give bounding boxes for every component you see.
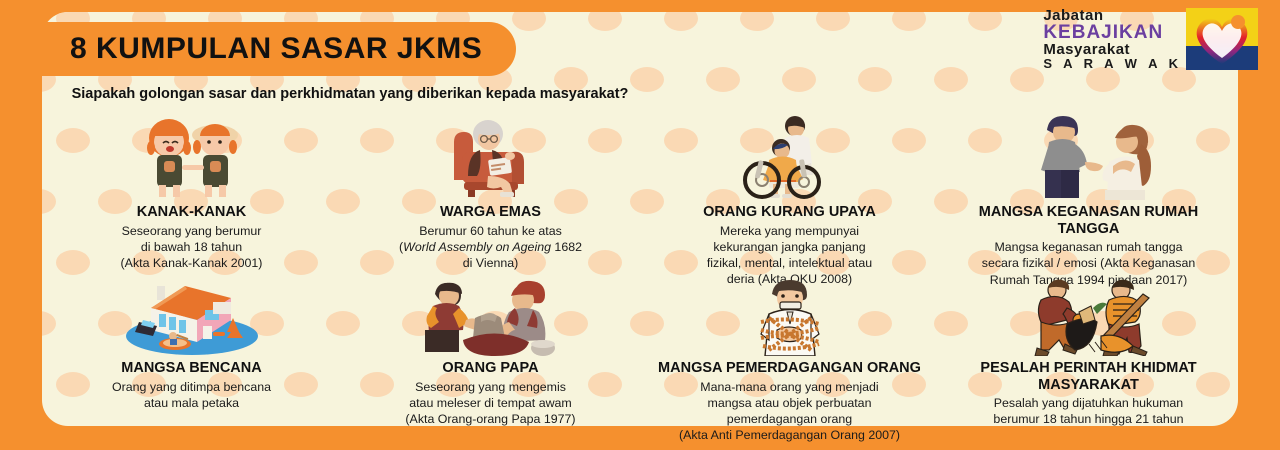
giving-aid-icon — [411, 278, 571, 356]
bound-person-icon — [725, 278, 855, 356]
card-pesalah-perintah-khidmat-masyarakat: PESALAH PERINTAH KHIDMAT MASYARAKAT Pesa… — [939, 278, 1238, 438]
background-dot — [782, 67, 816, 92]
card-body-line: (Akta Orang-orang Papa 1977) — [405, 411, 575, 427]
card-body: Seseorang yang mengemis atau meleser di … — [405, 379, 575, 427]
card-mangsa-keganasan-rumah-tangga: MANGSA KEGANASAN RUMAH TANGGA Mangsa keg… — [939, 108, 1238, 278]
card-body-line: Mana-mana orang yang menjadi — [679, 379, 900, 395]
card-heading: MANGSA PEMERDAGANGAN ORANG — [658, 360, 921, 377]
logo-line-sarawak: S A R A W A K — [1043, 57, 1182, 70]
wheelchair-user-icon — [725, 108, 855, 200]
card-heading: MANGSA KEGANASAN RUMAH TANGGA — [949, 204, 1228, 237]
card-body-line: atau meleser di tempat awam — [405, 395, 575, 411]
card-body-line: Mangsa keganasan rumah tangga — [982, 239, 1196, 255]
card-body: Seseorang yang berumur di bawah 18 tahun… — [121, 223, 263, 271]
infographic-poster: 8 KUMPULAN SASAR JKMS Jabatan KEBAJIKAN … — [0, 0, 1280, 450]
card-kanak-kanak: KANAK-KANAK Seseorang yang berumur di ba… — [42, 108, 341, 278]
card-heading: WARGA EMAS — [440, 204, 541, 221]
card-body: Mana-mana orang yang menjadi mangsa atau… — [679, 379, 900, 444]
background-dot — [740, 12, 774, 31]
background-dot — [968, 12, 1002, 31]
background-dot — [512, 12, 546, 31]
domestic-violence-icon — [1009, 108, 1169, 200]
subtitle: Siapakah golongan sasar dan perkhidmatan… — [60, 84, 640, 105]
heart-emblem-icon — [1186, 8, 1258, 70]
logo-wordmark: Jabatan KEBAJIKAN Masyarakat S A R A W A… — [1043, 8, 1182, 70]
two-children-icon — [127, 108, 257, 200]
card-body-line: di Vienna) — [399, 255, 582, 271]
page-title: 8 KUMPULAN SASAR JKMS — [70, 32, 482, 66]
background-dot — [858, 67, 892, 92]
logo-line-jabatan: Jabatan — [1043, 8, 1182, 23]
background-dot — [706, 67, 740, 92]
logo-line-kebajikan: KEBAJIKAN — [1043, 23, 1182, 42]
card-heading: ORANG KURANG UPAYA — [703, 204, 876, 221]
card-body-line: Seseorang yang berumur — [121, 223, 263, 239]
card-body: Pesalah yang dijatuhkan hukuman berumur … — [993, 395, 1183, 427]
card-body-line: (World Assembly on Ageing 1682 — [399, 239, 582, 255]
organisation-logo: Jabatan KEBAJIKAN Masyarakat S A R A W A… — [1043, 8, 1258, 70]
card-body-line: fizikal, mental, intelektual atau — [707, 255, 872, 271]
card-body-line: Mereka yang mempunyai — [707, 223, 872, 239]
background-dot — [934, 67, 968, 92]
background-dot — [816, 12, 850, 31]
elderly-in-armchair-icon — [426, 108, 556, 200]
card-body-italic: World Assembly on Ageing — [403, 240, 551, 254]
card-body-line: atau mala petaka — [112, 395, 271, 411]
background-dot — [664, 12, 698, 31]
background-dot — [892, 12, 926, 31]
target-group-grid: KANAK-KANAK Seseorang yang berumur di ba… — [42, 108, 1238, 428]
card-heading: ORANG PAPA — [442, 360, 538, 377]
card-orang-papa: ORANG PAPA Seseorang yang mengemis atau … — [341, 278, 640, 438]
card-body-line: Seseorang yang mengemis — [405, 379, 575, 395]
card-warga-emas: WARGA EMAS Berumur 60 tahun ke atas (Wor… — [341, 108, 640, 278]
card-mangsa-bencana: MANGSA BENCANA Orang yang ditimpa bencan… — [42, 278, 341, 438]
title-banner: 8 KUMPULAN SASAR JKMS — [42, 22, 516, 76]
background-dot — [1010, 67, 1044, 92]
card-body-line: kekurangan jangka panjang — [707, 239, 872, 255]
card-body-line: pemerdagangan orang — [679, 411, 900, 427]
card-heading: PESALAH PERINTAH KHIDMAT MASYARAKAT — [949, 360, 1228, 393]
card-body-line: di bawah 18 tahun — [121, 239, 263, 255]
card-body-line: Berumur 60 tahun ke atas — [399, 223, 582, 239]
card-body-line: Pesalah yang dijatuhkan hukuman — [993, 395, 1183, 411]
card-body-line: berumur 18 tahun hingga 21 tahun — [993, 411, 1183, 427]
card-body: Berumur 60 tahun ke atas (World Assembly… — [399, 223, 582, 271]
background-dot — [588, 12, 622, 31]
card-body-line: mangsa atau objek perbuatan — [679, 395, 900, 411]
card-orang-kurang-upaya: ORANG KURANG UPAYA Mereka yang mempunyai… — [640, 108, 939, 278]
community-service-icon — [1009, 278, 1169, 356]
card-mangsa-pemerdagangan-orang: MANGSA PEMERDAGANGAN ORANG Mana-mana ora… — [640, 278, 939, 438]
card-body-line: (Akta Anti Pemerdagangan Orang 2007) — [679, 427, 900, 443]
card-body: Orang yang ditimpa bencana atau mala pet… — [112, 379, 271, 411]
card-body-line: secara fizikal / emosi (Akta Keganasan — [982, 255, 1196, 271]
flooded-house-icon — [117, 278, 267, 356]
logo-line-masyarakat: Masyarakat — [1043, 42, 1182, 57]
card-body-line: (Akta Kanak-Kanak 2001) — [121, 255, 263, 271]
card-heading: MANGSA BENCANA — [121, 360, 261, 377]
card-body-line: Orang yang ditimpa bencana — [112, 379, 271, 395]
card-heading: KANAK-KANAK — [137, 204, 247, 221]
